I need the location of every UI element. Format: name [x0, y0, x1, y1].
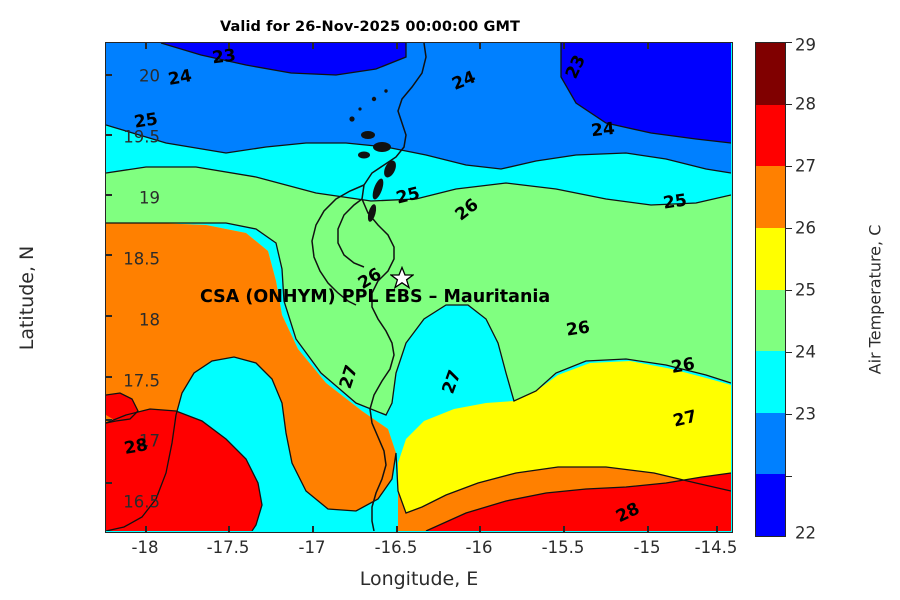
y-tick-label-18: 18 — [100, 311, 160, 330]
contour-label: 23 — [211, 46, 237, 69]
x-tick-mark-top — [396, 42, 398, 49]
x-tick-mark — [228, 526, 230, 533]
colorbar-label-28: 28 — [795, 95, 816, 114]
x-tick-label-m16-5: -16.5 — [375, 538, 418, 557]
site-annotation-label: CSA (ONHYM) PPL EBS – Mauritania — [200, 287, 550, 307]
colorbar-tick — [786, 352, 792, 353]
x-tick-mark-top — [479, 42, 481, 49]
x-tick-label-m17-5: -17.5 — [207, 538, 250, 557]
x-tick-mark-top — [563, 42, 565, 49]
y-tick-label-18-5: 18.5 — [100, 250, 160, 269]
x-tick-mark — [396, 526, 398, 533]
colorbar-tick — [786, 228, 792, 229]
y-tick-label-17-5: 17.5 — [100, 372, 160, 391]
x-tick-mark — [312, 526, 314, 533]
x-tick-mark-top — [145, 42, 147, 49]
contour-label: 24 — [167, 66, 194, 90]
colorbar-band-27 — [756, 166, 785, 228]
x-tick-mark — [145, 526, 147, 533]
colorbar-label-26: 26 — [795, 219, 816, 238]
x-tick-mark — [647, 526, 649, 533]
x-tick-label-m16: -16 — [466, 538, 493, 557]
x-tick-label-m15-5: -15.5 — [542, 538, 585, 557]
x-tick-label-m15: -15 — [634, 538, 661, 557]
colorbar-band-26 — [756, 228, 785, 290]
x-tick-mark — [716, 526, 718, 533]
figure-title: Valid for 26-Nov-2025 00:00:00 GMT — [0, 19, 740, 35]
contour-label: 28 — [123, 435, 150, 459]
colorbar-tick — [786, 166, 792, 167]
x-tick-label-m17: -17 — [299, 538, 326, 557]
colorbar-tick — [786, 476, 792, 477]
y-tick-label-20: 20 — [100, 67, 160, 86]
colorbar-label-24: 24 — [795, 343, 816, 362]
colorbar-band-29 — [756, 43, 785, 105]
contour-label: 25 — [133, 109, 160, 132]
y-axis-label: Latitude, N — [16, 183, 38, 413]
colorbar-tick — [786, 104, 792, 105]
x-tick-mark — [479, 526, 481, 533]
x-tick-mark-top — [312, 42, 314, 49]
x-axis-label: Longitude, E — [105, 568, 733, 590]
colorbar-band-28 — [756, 105, 785, 167]
x-tick-label-m14-5: -14.5 — [695, 538, 738, 557]
contour-label: 24 — [590, 119, 616, 141]
x-tick-mark — [563, 526, 565, 533]
figure-root: Valid for 26-Nov-2025 00:00:00 GMT — [0, 0, 900, 600]
colorbar-label-22: 22 — [795, 524, 816, 543]
colorbar-label-29: 29 — [795, 36, 816, 55]
colorbar-tick — [786, 414, 792, 415]
colorbar-label-27: 27 — [795, 157, 816, 176]
y-tick-label-19: 19 — [100, 189, 160, 208]
y-tick-mark — [105, 482, 112, 484]
colorbar-band-25 — [756, 290, 785, 352]
y-tick-label-16-5: 16.5 — [100, 493, 160, 512]
colorbar-band-23 — [756, 413, 785, 475]
colorbar-tick — [786, 42, 792, 43]
colorbar-tick — [786, 290, 792, 291]
y-tick-label-19-5: 19.5 — [100, 128, 160, 147]
x-tick-label-m18: -18 — [132, 538, 159, 557]
colorbar — [755, 42, 786, 537]
colorbar-label-25: 25 — [795, 281, 816, 300]
contour-label: 26 — [670, 354, 697, 378]
y-tick-mark — [105, 419, 112, 421]
colorbar-band-22 — [756, 474, 785, 536]
x-tick-mark-top — [647, 42, 649, 49]
colorbar-band-24 — [756, 351, 785, 413]
colorbar-label-23: 23 — [795, 405, 816, 424]
contour-label: 26 — [565, 317, 591, 340]
colorbar-title: Air Temperature, C — [866, 185, 885, 415]
contour-label: 25 — [662, 190, 688, 213]
